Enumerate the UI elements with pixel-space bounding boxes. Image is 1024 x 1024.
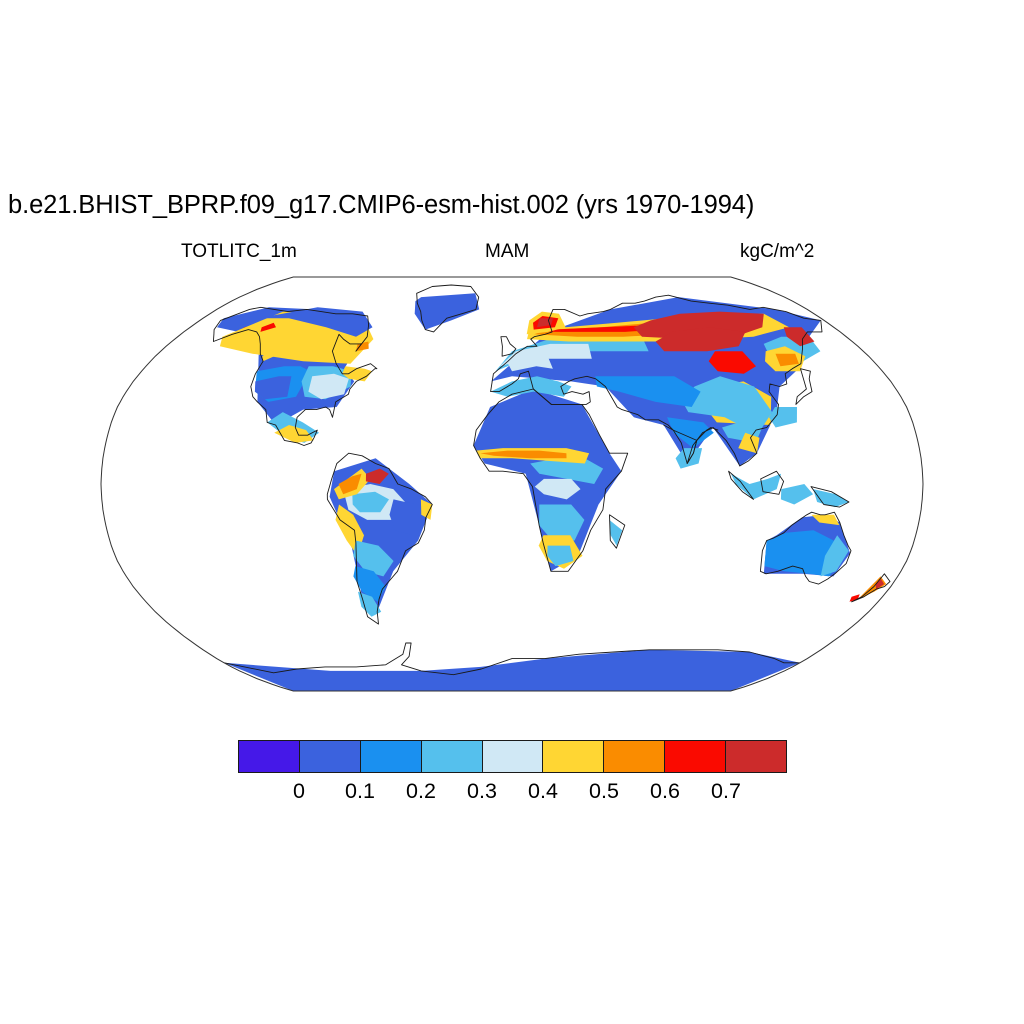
colorbar-tick: 0.3: [467, 779, 497, 804]
figure-canvas: b.e21.BHIST_BPRP.f09_g17.CMIP6-esm-hist.…: [0, 0, 1024, 1024]
colorbar-tick: 0.1: [345, 779, 375, 804]
colorbar-cell[interactable]: [361, 741, 422, 772]
colorbar-tick: 0.7: [711, 779, 741, 804]
colorbar-cell[interactable]: [604, 741, 665, 772]
units-label: kgC/m^2: [740, 241, 814, 263]
colorbar-cell[interactable]: [300, 741, 361, 772]
colorbar-cell[interactable]: [726, 741, 786, 772]
colorbar-tick: 0.6: [650, 779, 680, 804]
world-map: [100, 276, 924, 692]
colorbar-tick: 0: [293, 779, 305, 804]
map-svg: [100, 276, 924, 692]
colorbar-tick-labels: 00.10.20.30.40.50.60.7: [238, 779, 787, 807]
variable-label: TOTLITC_1m: [181, 241, 297, 263]
colorbar-cell[interactable]: [422, 741, 483, 772]
page-title: b.e21.BHIST_BPRP.f09_g17.CMIP6-esm-hist.…: [8, 191, 754, 220]
colorbar-cell[interactable]: [483, 741, 544, 772]
colorbar-cell[interactable]: [239, 741, 300, 772]
season-label: MAM: [485, 241, 529, 263]
colorbar-cell[interactable]: [543, 741, 604, 772]
colorbar-tick: 0.2: [406, 779, 436, 804]
colorbar-tick: 0.5: [589, 779, 619, 804]
colorbar-cell[interactable]: [665, 741, 726, 772]
colorbar-tick: 0.4: [528, 779, 558, 804]
colorbar[interactable]: [238, 740, 787, 773]
